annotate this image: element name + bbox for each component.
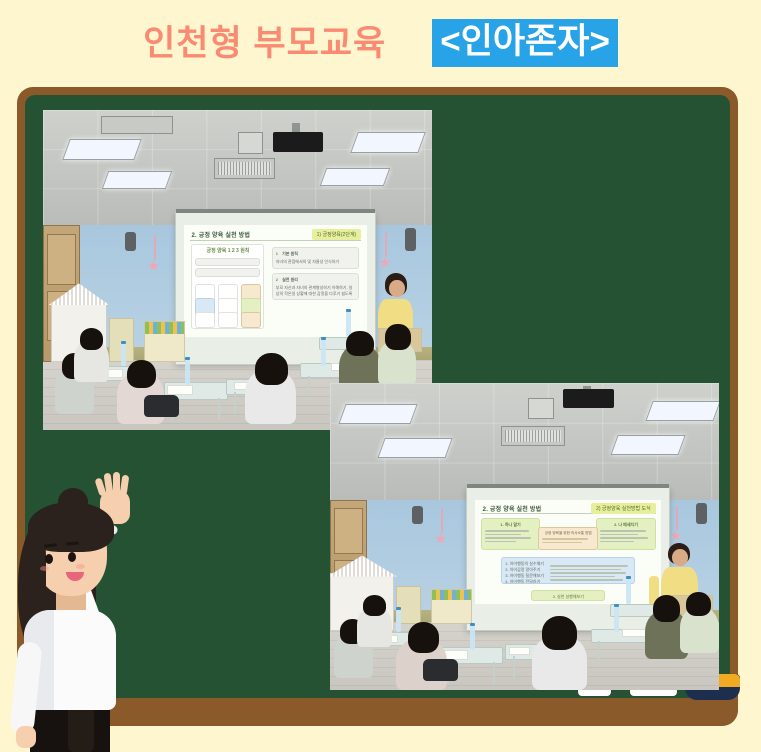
- eye-left: [45, 554, 53, 564]
- student-raising-hand-illustration: [0, 470, 160, 752]
- presenter-head: [389, 280, 405, 298]
- backpack: [144, 395, 179, 417]
- decor-string: [441, 509, 443, 534]
- water-bottle: [121, 344, 126, 366]
- slide-point-1-label: 기본 원칙: [282, 251, 298, 256]
- projector: [273, 132, 324, 151]
- water-bottle: [626, 579, 631, 604]
- water-bottle: [614, 607, 619, 632]
- slide-point-2: 2 실천 원리 부모 자신과 자녀의 관계형성하기 이해하기, 일상의 작은일 …: [272, 273, 360, 300]
- wall-speaker: [125, 232, 137, 251]
- title-highlight-badge: <인아존자>: [432, 19, 618, 67]
- ceiling-lamp: [377, 438, 453, 458]
- slide-point-1: 1 기본 원칙 자녀의 관점에서의 및 자율성 인식하기: [272, 247, 360, 269]
- slide-infographic: 긍정 양육 1 2 3 원칙: [191, 244, 264, 329]
- handout: [167, 385, 192, 395]
- water-bottle: [321, 340, 326, 366]
- audience-hair: [542, 616, 577, 650]
- cheek-right: [76, 564, 85, 569]
- page-title: 인천형 부모교육: [143, 26, 386, 61]
- ceiling-lamp: [62, 139, 142, 160]
- slide-title: 2. 긍정 양육 실천 방법: [191, 230, 250, 239]
- flow-right-title: 2. 나 메세지기: [600, 522, 652, 528]
- slide-infographic-title: 긍정 양육 1 2 3 원칙: [195, 248, 260, 256]
- slide-point-1-num: 1: [276, 251, 278, 256]
- audience-hair: [408, 622, 439, 653]
- audience-hair: [127, 360, 156, 389]
- backpack: [423, 659, 458, 680]
- classroom-lecture-photo-1: 2. 긍정 양육 실천 방법 1) 긍정양육(2단계) 긍정 양육 1 2 3 …: [43, 110, 432, 430]
- eye-right: [68, 552, 76, 562]
- ceiling-vent: [501, 426, 565, 446]
- audience-hair: [686, 592, 711, 617]
- ceiling-lamp: [645, 401, 719, 421]
- flow-left-box: 1. 하나 알기: [481, 518, 541, 549]
- decor-string: [676, 506, 678, 531]
- slide-point-2-label: 실천 원리: [282, 277, 298, 282]
- wall-speaker: [405, 228, 417, 250]
- ceiling-lamp: [320, 168, 391, 186]
- flow-step-4: 4. 아이행동 전달하기: [505, 579, 545, 584]
- cheek-left: [40, 566, 49, 571]
- handout: [509, 647, 530, 655]
- water-bottle: [396, 610, 401, 631]
- pants-highlight: [68, 706, 94, 752]
- decor-string: [385, 232, 387, 258]
- slide-point-2-body: 부모 자신과 자녀의 관계형성하기 이해하기, 일상의 작은일 상황에 대한 감…: [276, 285, 356, 297]
- projector: [563, 389, 614, 407]
- presentation-slide: 2. 긍정 양육 실천 방법 2) 긍정양육 실천방법 도식 1. 하나 알기 …: [475, 500, 661, 605]
- audience-hair: [346, 331, 373, 357]
- flow-left-title: 1. 하나 알기: [485, 522, 537, 528]
- audience-hair: [385, 324, 410, 350]
- poster-title-row: 인천형 부모교육 <인아존자>: [0, 0, 761, 86]
- flow-center-title: 긍정 양육을 위한 의사소통 방법: [542, 531, 594, 536]
- lowered-hand: [16, 726, 36, 748]
- ceiling-lamp: [102, 171, 173, 189]
- water-bottle: [185, 360, 190, 386]
- ceiling-panel: [101, 116, 173, 134]
- ceiling-vent-small: [238, 132, 263, 153]
- slide-tag: 1) 긍정양육(2단계): [312, 229, 362, 240]
- ceiling-lamp: [338, 404, 417, 424]
- ceiling-lamp: [350, 132, 426, 153]
- wall-speaker: [696, 503, 708, 524]
- toy-shelf: [431, 589, 472, 625]
- presentation-slide: 2. 긍정 양육 실천 방법 1) 긍정양육(2단계) 긍정 양육 1 2 3 …: [184, 225, 367, 336]
- slide-tag: 2) 긍정양육 실천방법 도식: [591, 503, 656, 514]
- water-bottle: [470, 626, 475, 651]
- audience-hair: [363, 595, 386, 616]
- audience-hair: [255, 353, 288, 385]
- ceiling-vent-small: [528, 398, 553, 418]
- classroom-lecture-photo-2: 2. 긍정 양육 실천 방법 2) 긍정양육 실천방법 도식 1. 하나 알기 …: [330, 383, 719, 690]
- handout: [622, 629, 647, 637]
- flow-steps-box: 1. 아이행동의 실수해기 2. 아이감정 알아주기 3. 아이행동 질문해보기…: [501, 557, 635, 584]
- poster-canvas: 인천형 부모교육 <인아존자>: [0, 0, 761, 752]
- wall-speaker: [412, 506, 424, 524]
- flow-footer-title: 3. 실천 실행해보기: [535, 594, 601, 600]
- flow-center-box: 긍정 양육을 위한 의사소통 방법: [538, 527, 598, 550]
- ceiling-lamp: [610, 435, 686, 455]
- audience-hair: [80, 328, 103, 350]
- flow-footer-box: 3. 실천 실행해보기: [531, 590, 605, 601]
- slide-point-1-body: 자녀의 관점에서의 및 자율성 인식하기: [276, 259, 356, 265]
- toy-shelf: [144, 321, 185, 361]
- slide-title: 2. 긍정 양육 실천 방법: [483, 504, 542, 513]
- decor-string: [154, 235, 156, 261]
- presenter-head: [672, 549, 688, 566]
- ceiling-vent: [214, 158, 274, 179]
- audience-hair: [653, 595, 680, 623]
- slide-point-2-num: 2: [276, 277, 278, 282]
- flow-right-box: 2. 나 메세지기: [596, 518, 656, 549]
